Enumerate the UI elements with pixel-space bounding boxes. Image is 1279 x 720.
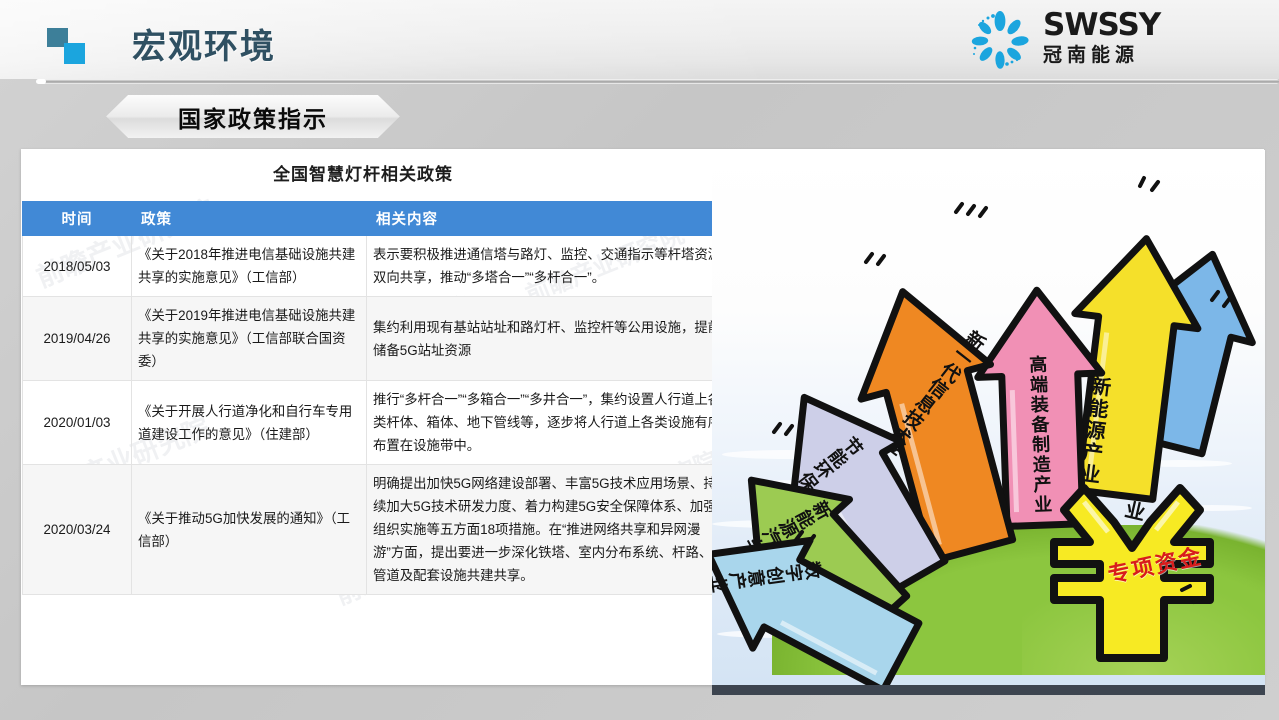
cell-time: 2020/03/24 <box>23 465 132 595</box>
slide-root: 宏观环境 SWSSY 冠南能源 <box>0 0 1279 720</box>
table-title: 全国智慧灯杆相关政策 <box>21 160 705 185</box>
brand-name-cn: 冠南能源 <box>1043 45 1160 66</box>
cell-content: 表示要积极推进通信塔与路灯、监控、交通指示等杆塔资源双向共享，推动“多塔合一”“… <box>367 236 730 297</box>
cell-time: 2018/05/03 <box>23 236 132 297</box>
table-body: 2018/05/03 《关于2018年推进电信基础设施共建共享的实施意见》（工信… <box>23 236 730 595</box>
table-row: 2019/04/26 《关于2019年推进电信基础设施共建共享的实施意见》（工信… <box>23 297 730 381</box>
cell-content: 推行“多杆合一”“多箱合一”“多井合一”，集约设置人行道上各类杆体、箱体、地下管… <box>367 381 730 465</box>
cell-policy: 《关于开展人行道净化和自行车专用道建设工作的意见》（住建部） <box>132 381 367 465</box>
page-title: 宏观环境 <box>132 19 276 68</box>
cell-policy: 《关于推动5G加快发展的通知》（工信部） <box>132 465 367 595</box>
brand-text: SWSSY 冠南能源 <box>1043 10 1160 66</box>
table-header-row: 时间 政策 相关内容 <box>23 202 730 236</box>
header-divider-rule <box>40 79 1279 84</box>
table-row: 2020/03/24 《关于推动5G加快发展的通知》（工信部） 明确提出加快5G… <box>23 465 730 595</box>
cell-policy: 《关于2019年推进电信基础设施共建共享的实施意见》（工信部联合国资委） <box>132 297 367 381</box>
arrows-svg: 生物产业 新能源产业 高端装备制造产业 新一代信息技术产业 <box>712 150 1265 685</box>
table-row: 2018/05/03 《关于2018年推进电信基础设施共建共享的实施意见》（工信… <box>23 236 730 297</box>
column-header-policy: 政策 <box>132 202 367 236</box>
cell-content: 集约利用现有基站站址和路灯杆、监控杆等公用设施，提前储备5G站址资源 <box>367 297 730 381</box>
section-banner: 国家政策指示 <box>106 95 400 138</box>
header-divider-cap <box>36 79 46 84</box>
table-row: 2020/01/03 《关于开展人行道净化和自行车专用道建设工作的意见》（住建部… <box>23 381 730 465</box>
brand-name: SWSSY <box>1043 10 1160 41</box>
industry-growth-arrows-illustration: 生物产业 新能源产业 高端装备制造产业 新一代信息技术产业 <box>712 150 1265 695</box>
water-droplet-circle-logo-icon <box>969 10 1031 70</box>
decor-square-blue-icon <box>64 43 85 64</box>
section-banner-label: 国家政策指示 <box>178 100 328 134</box>
cell-time: 2020/01/03 <box>23 381 132 465</box>
cell-content: 明确提出加快5G网络建设部署、丰富5G技术应用场景、持续加大5G技术研发力度、着… <box>367 465 730 595</box>
brand-logo: SWSSY 冠南能源 <box>969 8 1239 72</box>
cell-policy: 《关于2018年推进电信基础设施共建共享的实施意见》（工信部） <box>132 236 367 297</box>
policy-table: 时间 政策 相关内容 2018/05/03 《关于2018年推进电信基础设施共建… <box>22 201 730 595</box>
column-header-time: 时间 <box>23 202 132 236</box>
column-header-content: 相关内容 <box>367 202 730 236</box>
table-head: 时间 政策 相关内容 <box>23 202 730 236</box>
cell-time: 2019/04/26 <box>23 297 132 381</box>
